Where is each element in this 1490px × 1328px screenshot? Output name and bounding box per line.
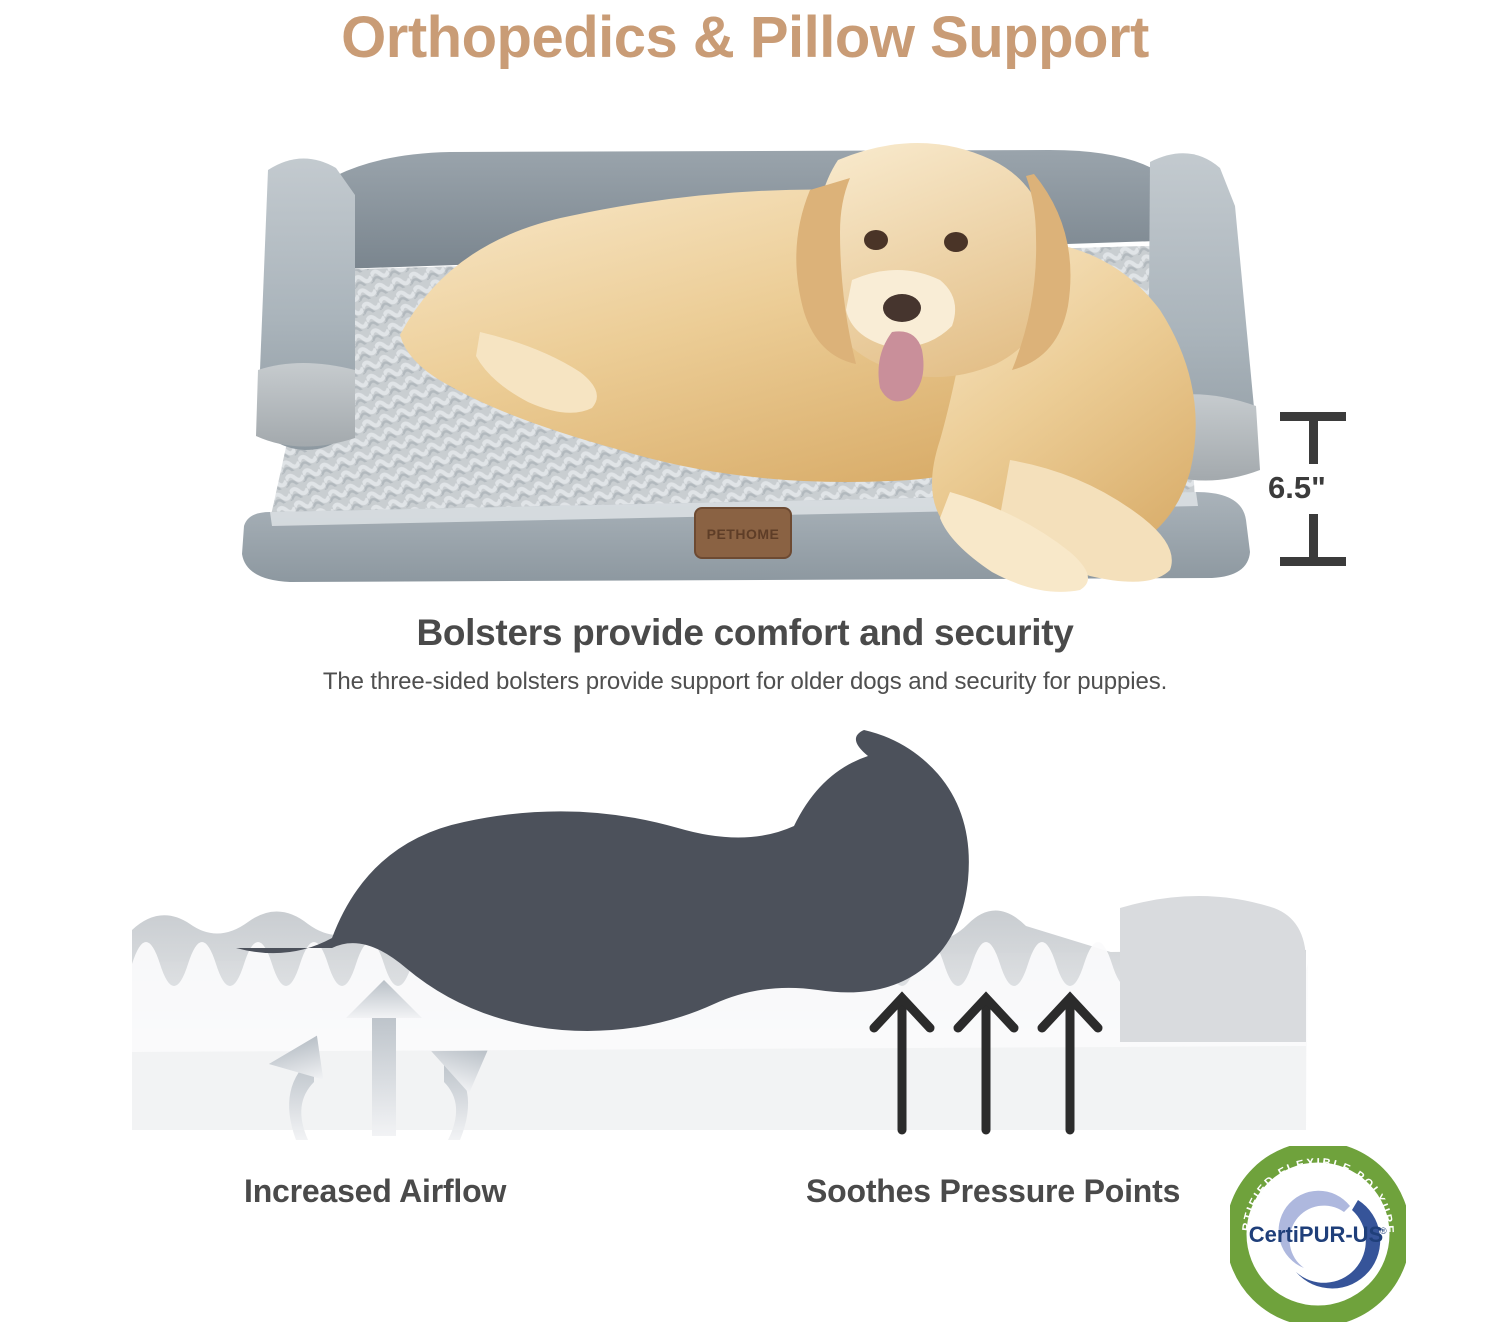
- dog-eye-right: [944, 232, 968, 252]
- bed-height-value: 6.5": [1268, 470, 1388, 506]
- dog-eye-left: [864, 230, 888, 250]
- page-title: Orthopedics & Pillow Support: [0, 4, 1490, 71]
- foam-right-riser: [1120, 896, 1306, 1042]
- hero-product-photo: PETHOME: [150, 120, 1290, 600]
- brand-tag: PETHOME: [695, 508, 791, 558]
- badge-registered-mark: ®: [1380, 1226, 1387, 1236]
- caption-soothes-pressure-points: Soothes Pressure Points: [806, 1173, 1180, 1210]
- caption-increased-airflow: Increased Airflow: [244, 1173, 506, 1210]
- badge-center-text: CertiPUR-US: [1249, 1222, 1383, 1247]
- feature-headline: Bolsters provide comfort and security: [0, 612, 1490, 654]
- feature-subheadline: The three-sided bolsters provide support…: [0, 668, 1490, 696]
- dog-nose: [883, 294, 921, 322]
- svg-text:PETHOME: PETHOME: [707, 526, 780, 542]
- infographic-page: Orthopedics & Pillow Support: [0, 0, 1490, 1328]
- left-bolster-fur-cap: [256, 363, 355, 447]
- foam-cross-section-diagram: [110, 712, 1330, 1162]
- certipur-us-seal: CONTAINS CERTIFIED FLEXIBLE POLYURETHANE…: [1230, 1146, 1406, 1322]
